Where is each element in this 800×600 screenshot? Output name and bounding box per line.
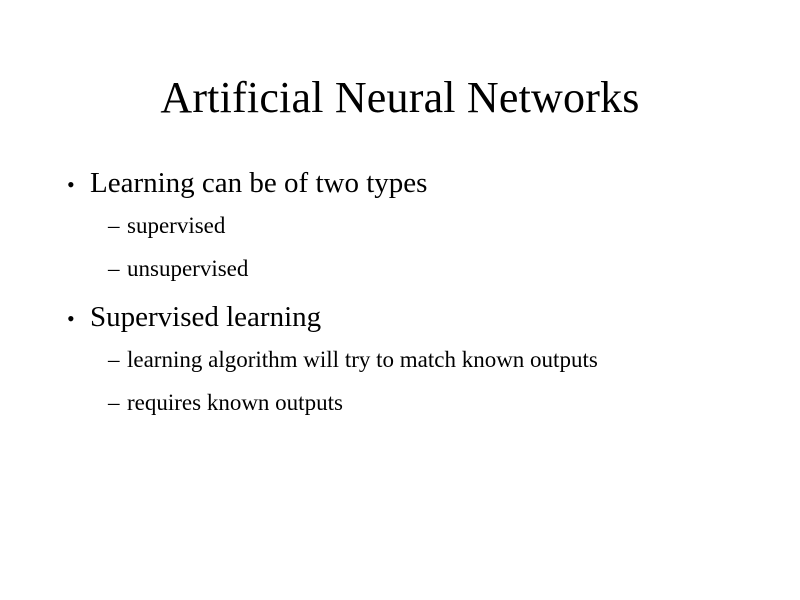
bullet-dash-icon: – <box>108 348 127 372</box>
bullet-text: learning algorithm will try to match kno… <box>127 348 598 372</box>
slide-body-outline: • Learning can be of two types – supervi… <box>60 168 760 415</box>
bullet-text: supervised <box>127 214 225 238</box>
bullet-item-level2: – learning algorithm will try to match k… <box>60 348 760 372</box>
bullet-item-level1: • Supervised learning <box>60 302 760 334</box>
bullet-dash-icon: – <box>108 257 127 281</box>
slide-title: Artificial Neural Networks <box>0 72 800 124</box>
bullet-text: Supervised learning <box>90 302 321 332</box>
bullet-dot-icon: • <box>60 304 90 334</box>
bullet-dash-icon: – <box>108 214 127 238</box>
bullet-item-level1: • Learning can be of two types <box>60 168 760 200</box>
bullet-text: Learning can be of two types <box>90 168 427 198</box>
bullet-text: unsupervised <box>127 257 248 281</box>
bullet-dot-icon: • <box>60 170 90 200</box>
presentation-slide: Artificial Neural Networks • Learning ca… <box>0 0 800 600</box>
bullet-item-level2: – supervised <box>60 214 760 238</box>
bullet-dash-icon: – <box>108 391 127 415</box>
bullet-item-level2: – requires known outputs <box>60 391 760 415</box>
bullet-item-level2: – unsupervised <box>60 257 760 281</box>
bullet-text: requires known outputs <box>127 391 343 415</box>
